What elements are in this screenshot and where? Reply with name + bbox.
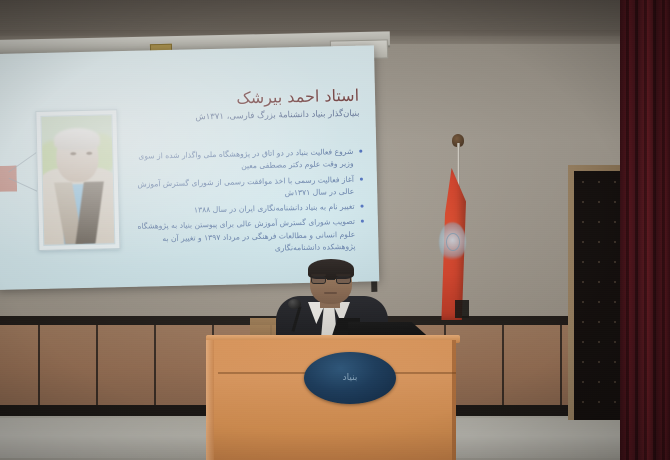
door-upholstery-stud bbox=[582, 361, 584, 363]
slide-portrait-frame bbox=[35, 109, 120, 251]
wainscot-panel-seam bbox=[38, 325, 40, 409]
door-upholstery-stud bbox=[614, 241, 616, 243]
door-upholstery-stud bbox=[614, 341, 616, 343]
door-upholstery-stud bbox=[614, 201, 616, 203]
door-upholstery-stud bbox=[598, 321, 600, 323]
curtain-fold bbox=[626, 0, 629, 460]
door-upholstery-stud bbox=[614, 261, 616, 263]
door-upholstery-stud bbox=[614, 301, 616, 303]
door-upholstery-stud bbox=[582, 201, 584, 203]
slide-bullet-text: شروع فعالیت بنیاد در دو اتاق در پژوهشگاه… bbox=[138, 147, 353, 171]
podium-left-edge bbox=[206, 340, 214, 460]
door-upholstery-stud bbox=[598, 361, 600, 363]
door-upholstery-stud bbox=[614, 361, 616, 363]
bullet-marker-icon bbox=[361, 220, 364, 223]
door-upholstery-stud bbox=[582, 261, 584, 263]
projection-screen: استاد احمد بیرشک بنیان‌گذار بنیاد دانشنا… bbox=[0, 45, 379, 290]
bullet-marker-icon bbox=[361, 205, 364, 208]
photograph-scene: استاد احمد بیرشک بنیان‌گذار بنیاد دانشنا… bbox=[0, 0, 670, 460]
slide-bullet-text: آغاز فعالیت رسمی با اخذ موافقت رسمی از ش… bbox=[137, 174, 354, 197]
slide-title: استاد احمد بیرشک bbox=[144, 86, 359, 111]
door-upholstery-stud bbox=[598, 301, 600, 303]
door-upholstery-stud bbox=[598, 201, 600, 203]
slide-bullet-item: تغییر نام به بنیاد دانشنامه‌نگاری ایران … bbox=[133, 201, 363, 219]
slide-bullet-list: شروع فعالیت بنیاد در دو اتاق در پژوهشگاه… bbox=[132, 146, 364, 262]
microphone-head-icon bbox=[288, 299, 301, 309]
door-upholstery-stud bbox=[598, 401, 600, 403]
speaker-mouth bbox=[324, 292, 337, 294]
slide-bullet-item: تصویب شورای گسترش آموزش عالی برای پیوستن… bbox=[134, 216, 365, 258]
slide-bullet-text: تصویب شورای گسترش آموزش عالی برای پیوستن… bbox=[137, 217, 355, 252]
door-upholstery-stud bbox=[582, 401, 584, 403]
flag-emblem-inner-ring bbox=[446, 233, 460, 251]
podium-plaque-text: بنیاد bbox=[304, 352, 396, 404]
door-upholstery-stud bbox=[614, 221, 616, 223]
flag-stand bbox=[455, 300, 469, 318]
glasses-lens-left bbox=[311, 276, 326, 284]
door-upholstery-stud bbox=[614, 381, 616, 383]
door-upholstery-stud bbox=[582, 281, 584, 283]
curtain-fold bbox=[662, 0, 665, 460]
bullet-marker-icon bbox=[359, 150, 362, 153]
door-upholstery-stud bbox=[582, 341, 584, 343]
podium: بنیاد bbox=[210, 340, 456, 460]
wainscot-panel-seam bbox=[96, 325, 98, 409]
glasses-bridge bbox=[327, 279, 335, 280]
door-upholstery-stud bbox=[582, 301, 584, 303]
wainscot-panel-seam bbox=[502, 325, 504, 409]
door-upholstery-stud bbox=[598, 181, 600, 183]
door-upholstery-stud bbox=[614, 401, 616, 403]
door-upholstery-stud bbox=[598, 241, 600, 243]
wainscot-panel-seam bbox=[560, 325, 562, 409]
glasses-lens-right bbox=[336, 276, 351, 284]
door-upholstery-stud bbox=[614, 321, 616, 323]
wainscot-panel-seam bbox=[154, 325, 156, 409]
slide-bullet-item: آغاز فعالیت رسمی با اخذ موافقت رسمی از ش… bbox=[133, 173, 363, 203]
door-upholstery-stud bbox=[598, 381, 600, 383]
door-upholstery-stud bbox=[598, 261, 600, 263]
door-upholstery-stud bbox=[598, 341, 600, 343]
door-upholstery-stud bbox=[582, 221, 584, 223]
stage-curtain bbox=[620, 0, 670, 460]
door-upholstery-stud bbox=[598, 221, 600, 223]
portrait-hair bbox=[54, 128, 100, 151]
door-upholstery-stud bbox=[582, 381, 584, 383]
slide-portrait-image bbox=[40, 114, 115, 246]
door-upholstery-stud bbox=[582, 181, 584, 183]
slide-bullet-text: تغییر نام به بنیاد دانشنامه‌نگاری ایران … bbox=[194, 202, 355, 215]
slide-subtitle: بنیان‌گذار بنیاد دانشنامهٔ بزرگ فارسی، ۱… bbox=[144, 109, 359, 125]
dark-doorway bbox=[574, 171, 622, 420]
door-upholstery-stud bbox=[614, 181, 616, 183]
curtain-fold bbox=[635, 0, 638, 460]
door-upholstery-stud bbox=[614, 281, 616, 283]
curtain-fold bbox=[644, 0, 647, 460]
door-upholstery-stud bbox=[582, 321, 584, 323]
door-upholstery-stud bbox=[582, 241, 584, 243]
door-upholstery-stud bbox=[598, 281, 600, 283]
slide-bullet-item: شروع فعالیت بنیاد در دو اتاق در پژوهشگاه… bbox=[132, 146, 362, 176]
curtain-fold bbox=[653, 0, 656, 460]
bullet-marker-icon bbox=[360, 177, 363, 180]
speaker-glasses-icon bbox=[311, 276, 351, 284]
projected-slide: استاد احمد بیرشک بنیان‌گذار بنیاد دانشنا… bbox=[0, 45, 379, 290]
podium-plaque: بنیاد bbox=[304, 352, 396, 404]
